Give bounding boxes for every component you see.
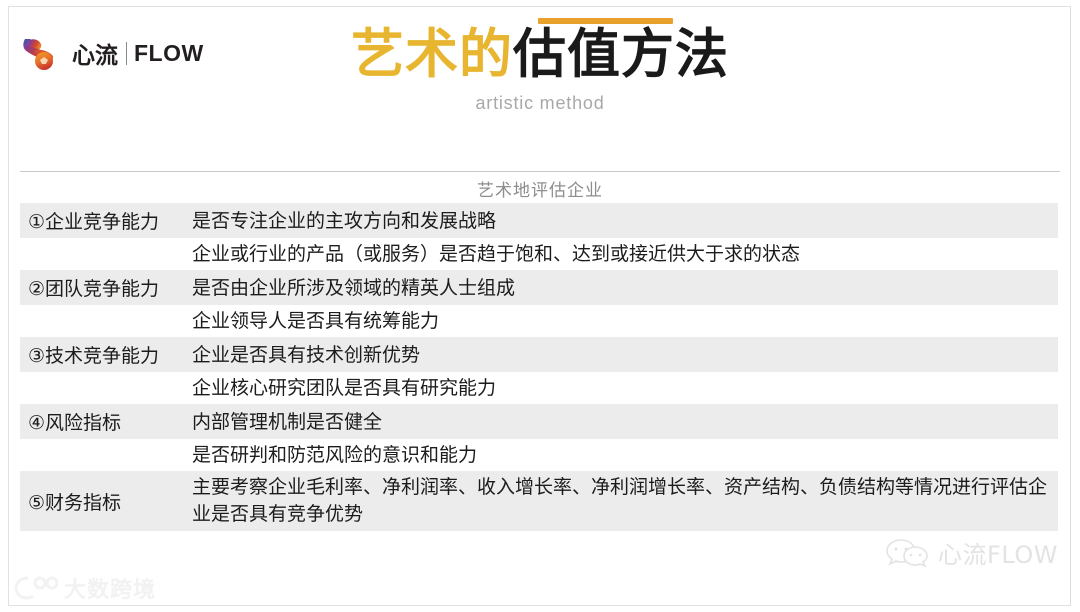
table-row: 企业核心研究团队是否具有研究能力 [20,372,1058,404]
row-description: 企业核心研究团队是否具有研究能力 [192,374,1058,402]
row-label: ③技术竞争能力 [20,341,192,368]
wechat-icon [885,537,929,569]
table-row: 企业领导人是否具有统筹能力 [20,305,1058,337]
row-label: ②团队竞争能力 [20,274,192,301]
page-subtitle: artistic method [0,93,1080,114]
evaluation-table: ①企业竞争能力 是否专注企业的主攻方向和发展战略 企业或行业的产品（或服务）是否… [20,203,1058,531]
row-description: 是否专注企业的主攻方向和发展战略 [192,207,1058,235]
row-description: 企业领导人是否具有统筹能力 [192,307,1058,335]
row-description: 主要考察企业毛利率、净利润率、收入增长率、净利润增长率、资产结构、负债结构等情况… [192,474,1058,528]
header-divider [20,171,1060,172]
row-description: 内部管理机制是否健全 [192,408,1058,436]
page-title: 艺术的估值方法 [0,25,1080,85]
watermark-right: 心流FLOW [885,535,1058,570]
table-row: ①企业竞争能力 是否专注企业的主攻方向和发展战略 [20,203,1058,238]
watermark-left-text: 大数跨境 [64,572,156,604]
section-header: 艺术地评估企业 [20,176,1060,201]
row-label: ⑤财务指标 [20,488,192,515]
table-row: 企业或行业的产品（或服务）是否趋于饱和、达到或接近供大于求的状态 [20,238,1058,270]
dashukuajing-logo-icon [14,575,58,601]
slide-canvas: 心流 FLOW 艺术的估值方法 artistic method 艺术地评估企业 … [0,0,1080,612]
row-description: 企业或行业的产品（或服务）是否趋于饱和、达到或接近供大于求的状态 [192,240,1058,268]
row-label: ④风险指标 [20,408,192,435]
title-accent-bar [538,18,673,24]
watermark-right-text: 心流FLOW [938,535,1058,570]
table-row: ④风险指标 内部管理机制是否健全 [20,404,1058,439]
title-block: 艺术的估值方法 artistic method [0,18,1080,114]
table-row: ③技术竞争能力 企业是否具有技术创新优势 [20,337,1058,372]
table-row: ②团队竞争能力 是否由企业所涉及领域的精英人士组成 [20,270,1058,305]
row-label: ①企业竞争能力 [20,207,192,234]
table-row: ⑤财务指标 主要考察企业毛利率、净利润率、收入增长率、净利润增长率、资产结构、负… [20,471,1058,531]
row-description: 是否研判和防范风险的意识和能力 [192,441,1058,469]
table-row: 是否研判和防范风险的意识和能力 [20,439,1058,471]
row-description: 企业是否具有技术创新优势 [192,341,1058,369]
row-description: 是否由企业所涉及领域的精英人士组成 [192,274,1058,302]
page-title-dark: 估值方法 [513,24,729,85]
watermark-left: 大数跨境 [14,572,156,604]
page-title-gold: 艺术的 [351,24,513,85]
